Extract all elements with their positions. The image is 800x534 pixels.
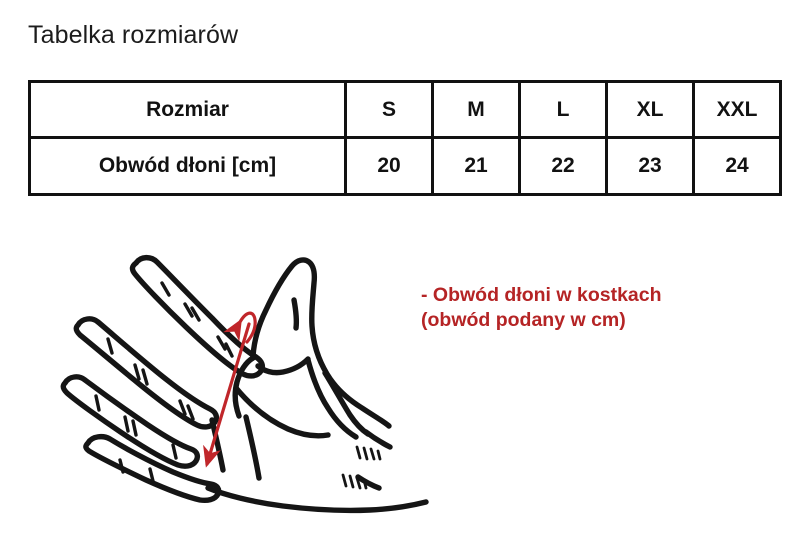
table-header-size-l: L [520, 82, 607, 138]
measurement-annotation: - Obwód dłoni w kostkach (obwód podany w… [421, 283, 662, 333]
table-header-label-rozmiar: Rozmiar [30, 82, 346, 138]
table-header-size-xxl: XXL [694, 82, 781, 138]
hand-outline [63, 258, 426, 511]
annotation-line-2: (obwód podany w cm) [421, 308, 662, 333]
table-header-size-m: M [433, 82, 520, 138]
thumb-inner-crease [294, 300, 296, 328]
size-chart-table: Rozmiar S M L XL XXL Obwód dłoni [cm] 20… [28, 80, 782, 196]
wrist-lower-contour [358, 477, 379, 488]
table-cell-circumference-m: 21 [433, 138, 520, 195]
palm-lower-right-contour [325, 373, 368, 434]
hand-bottom-edge [208, 488, 426, 510]
little-finger-outline [86, 437, 219, 501]
annotation-line-1: - Obwód dłoni w kostkach [421, 283, 662, 308]
table-header-size-s: S [346, 82, 433, 138]
table-data-row: Obwód dłoni [cm] 20 21 22 23 24 [30, 138, 781, 195]
table-row-label-obwod-dloni: Obwód dłoni [cm] [30, 138, 346, 195]
table-cell-circumference-xxl: 24 [694, 138, 781, 195]
table-header-size-xl: XL [607, 82, 694, 138]
palm-right-edge [258, 359, 308, 373]
page-title: Tabelka rozmiarów [28, 21, 238, 50]
palm-crease-lower [246, 417, 259, 478]
table-cell-circumference-l: 22 [520, 138, 607, 195]
hand-illustration [40, 238, 440, 534]
table-cell-circumference-xl: 23 [607, 138, 694, 195]
wrist-upper-edge [366, 432, 390, 447]
table-header-row: Rozmiar S M L XL XXL [30, 82, 781, 138]
table-cell-circumference-s: 20 [346, 138, 433, 195]
